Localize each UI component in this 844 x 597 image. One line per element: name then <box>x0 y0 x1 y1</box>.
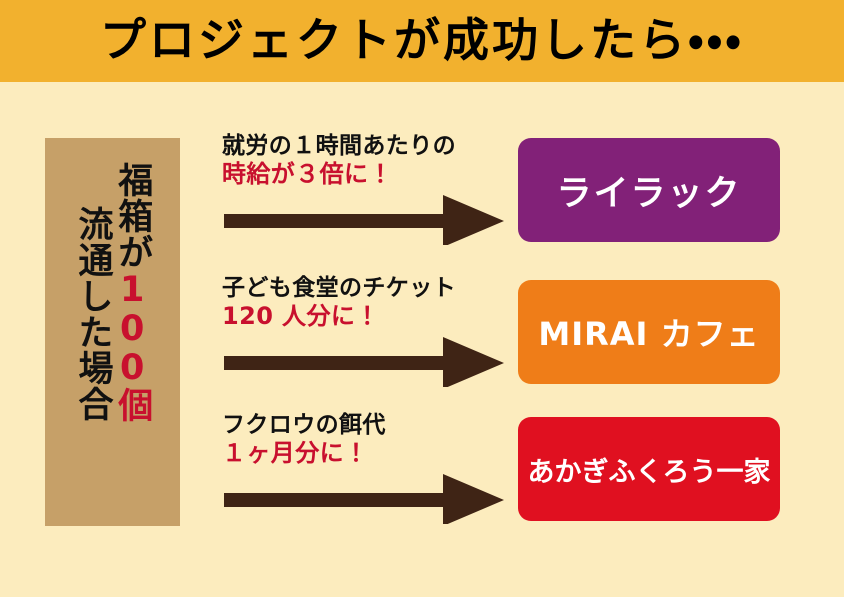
condition-box: 福箱が100個 流通した場合 <box>45 138 180 526</box>
result-card[interactable]: MIRAI カフェ <box>518 280 780 384</box>
condition-column-left: 流通した場合 <box>74 206 110 422</box>
arrow-label-line-2: 120 人分に！ <box>222 302 510 330</box>
arrow-label: フクロウの餌代 １ヶ月分に！ <box>222 412 510 467</box>
arrow-label: 子ども食堂のチケット 120 人分に！ <box>222 275 510 330</box>
page-title: プロジェクトが成功したら・・・ <box>0 0 844 82</box>
result-card-label: MIRAI カフェ <box>538 309 759 355</box>
condition-count-unit: 個 <box>112 387 152 423</box>
result-card[interactable]: あかぎふくろう一家 <box>518 417 780 521</box>
arrow-right-icon <box>218 470 510 524</box>
condition-vertical-text: 福箱が100個 流通した場合 <box>45 138 180 526</box>
arrow-right-icon <box>218 333 510 387</box>
result-card[interactable]: ライラック <box>518 138 780 242</box>
arrow-label-line-1: 就労の１時間あたりの <box>222 133 510 160</box>
infographic-poster: プロジェクトが成功したら・・・ 福箱が100個 流通した場合 就労の１時間あたり… <box>0 0 844 597</box>
header-banner: プロジェクトが成功したら・・・ <box>0 0 844 82</box>
arrow-label-line-1: フクロウの餌代 <box>222 412 510 439</box>
condition-column-right: 福箱が100個 <box>114 162 150 423</box>
arrow-label: 就労の１時間あたりの 時給が３倍に！ <box>222 133 510 188</box>
result-card-label: ライラック <box>556 165 741 216</box>
arrow-label-line-2: 時給が３倍に！ <box>222 160 510 188</box>
outcome-row: フクロウの餌代 １ヶ月分に！ あかぎふくろう一家 <box>218 412 828 532</box>
arrow-block: 子ども食堂のチケット 120 人分に！ <box>218 275 510 395</box>
outcome-row: 子ども食堂のチケット 120 人分に！ MIRAI カフェ <box>218 275 828 395</box>
arrow-block: 就労の１時間あたりの 時給が３倍に！ <box>218 133 510 253</box>
arrow-label-line-1: 子ども食堂のチケット <box>222 275 510 302</box>
condition-fukubako-text: 福箱が <box>112 162 152 270</box>
arrow-right-icon <box>218 191 510 245</box>
result-card-label: あかぎふくろう一家 <box>528 450 771 489</box>
condition-count-number: 100 <box>112 270 152 387</box>
arrow-block: フクロウの餌代 １ヶ月分に！ <box>218 412 510 532</box>
arrow-label-line-2: １ヶ月分に！ <box>222 439 510 467</box>
outcome-row: 就労の１時間あたりの 時給が３倍に！ ライラック <box>218 133 828 253</box>
